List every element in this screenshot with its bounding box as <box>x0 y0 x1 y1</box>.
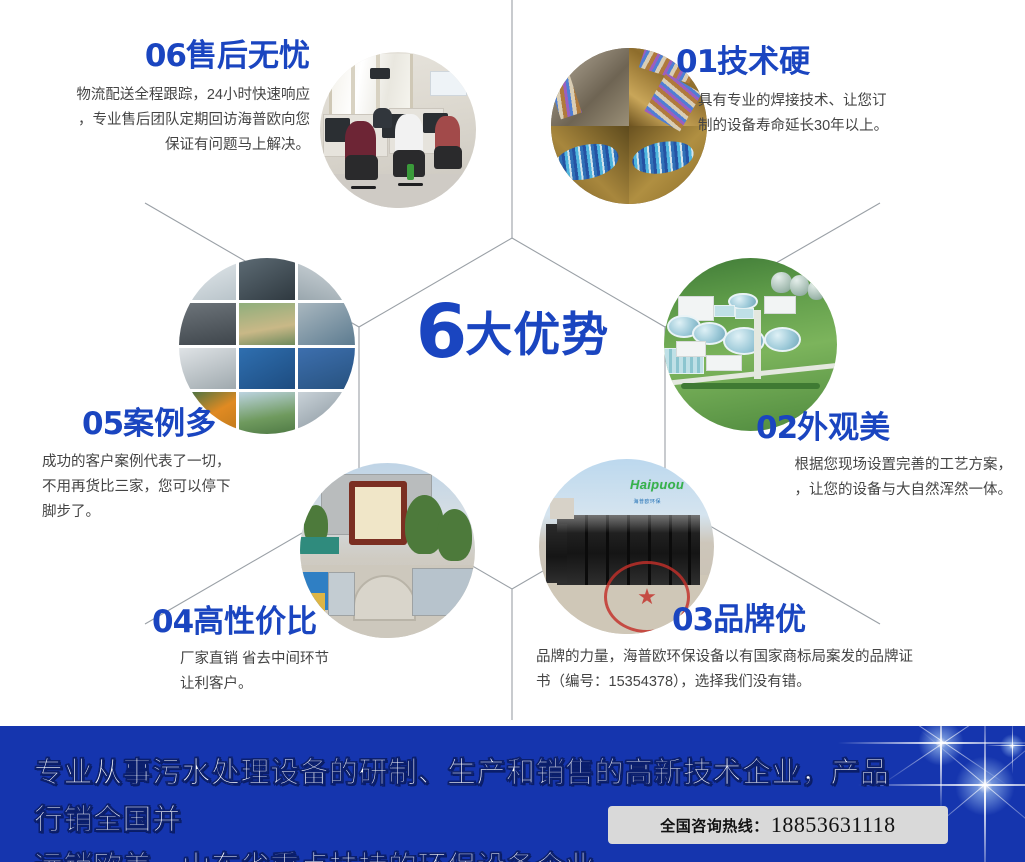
sparkle-ray-v2 <box>984 726 986 862</box>
brand-logo-subtext: 海普欧环保 <box>634 498 662 505</box>
feature-body-02: 根据您现场设置完善的工艺方案， ，让您的设备与大自然浑然一体。 <box>690 453 1012 503</box>
feature-block-03: 03品牌优 品牌的力量，海普欧环保设备以有国家商标局案发的品牌证 书（编号：15… <box>536 604 1006 695</box>
feature-photo-06-office-team <box>320 52 476 208</box>
hotline-number: 18853631118 <box>771 812 896 838</box>
sparkle-ray-v3 <box>1012 726 1013 774</box>
feature-body-05: 成功的客户案例代表了一切， 不用再货比三家，您可以停下 脚步了。 <box>42 450 342 525</box>
feature-title-01: 01技术硬 <box>676 46 1006 78</box>
feature-title-05: 05案例多 <box>42 408 342 440</box>
center-number: 6 <box>416 289 466 375</box>
center-headline: 6大优势 <box>0 295 1025 369</box>
brand-logo-text: Haipuou <box>630 477 684 492</box>
feature-block-02: 02外观美 根据您现场设置完善的工艺方案， ，让您的设备与大自然浑然一体。 <box>690 412 1012 503</box>
advantages-infographic: Haipuou 海普欧环保 ★ <box>0 0 1025 862</box>
feature-block-01: 01技术硬 具有专业的焊接技术、让您订 制的设备寿命延长30年以上。 <box>676 46 1006 139</box>
feature-title-06: 06售后无忧 <box>10 40 310 72</box>
feature-body-01: 具有专业的焊接技术、让您订 制的设备寿命延长30年以上。 <box>676 89 1006 139</box>
sparkle-ray-h3 <box>986 745 1025 746</box>
feature-title-03: 03品牌优 <box>536 604 1006 636</box>
hotline-label: 全国咨询热线： <box>660 815 769 836</box>
feature-title-02: 02外观美 <box>690 412 1012 444</box>
sparkle-ray-h1 <box>838 742 1025 744</box>
feature-block-06: 06售后无忧 物流配送全程跟踪，24小时快速响应 ，专业售后团队定期回访海普欧向… <box>10 40 310 158</box>
feature-block-05: 05案例多 成功的客户案例代表了一切， 不用再货比三家，您可以停下 脚步了。 <box>42 408 342 525</box>
center-label: 大优势 <box>465 308 609 361</box>
feature-title-04: 04高性价比 <box>152 606 472 638</box>
feature-block-04: 04高性价比 厂家直销 省去中间环节 让利客户。 <box>152 606 472 697</box>
feature-body-03: 品牌的力量，海普欧环保设备以有国家商标局案发的品牌证 书（编号：15354378… <box>536 645 1006 695</box>
feature-body-04: 厂家直销 省去中间环节 让利客户。 <box>152 647 472 697</box>
hotline-box[interactable]: 全国咨询热线： 18853631118 <box>608 806 948 844</box>
feature-body-06: 物流配送全程跟踪，24小时快速响应 ，专业售后团队定期回访海普欧向您 保证有问题… <box>10 83 310 158</box>
